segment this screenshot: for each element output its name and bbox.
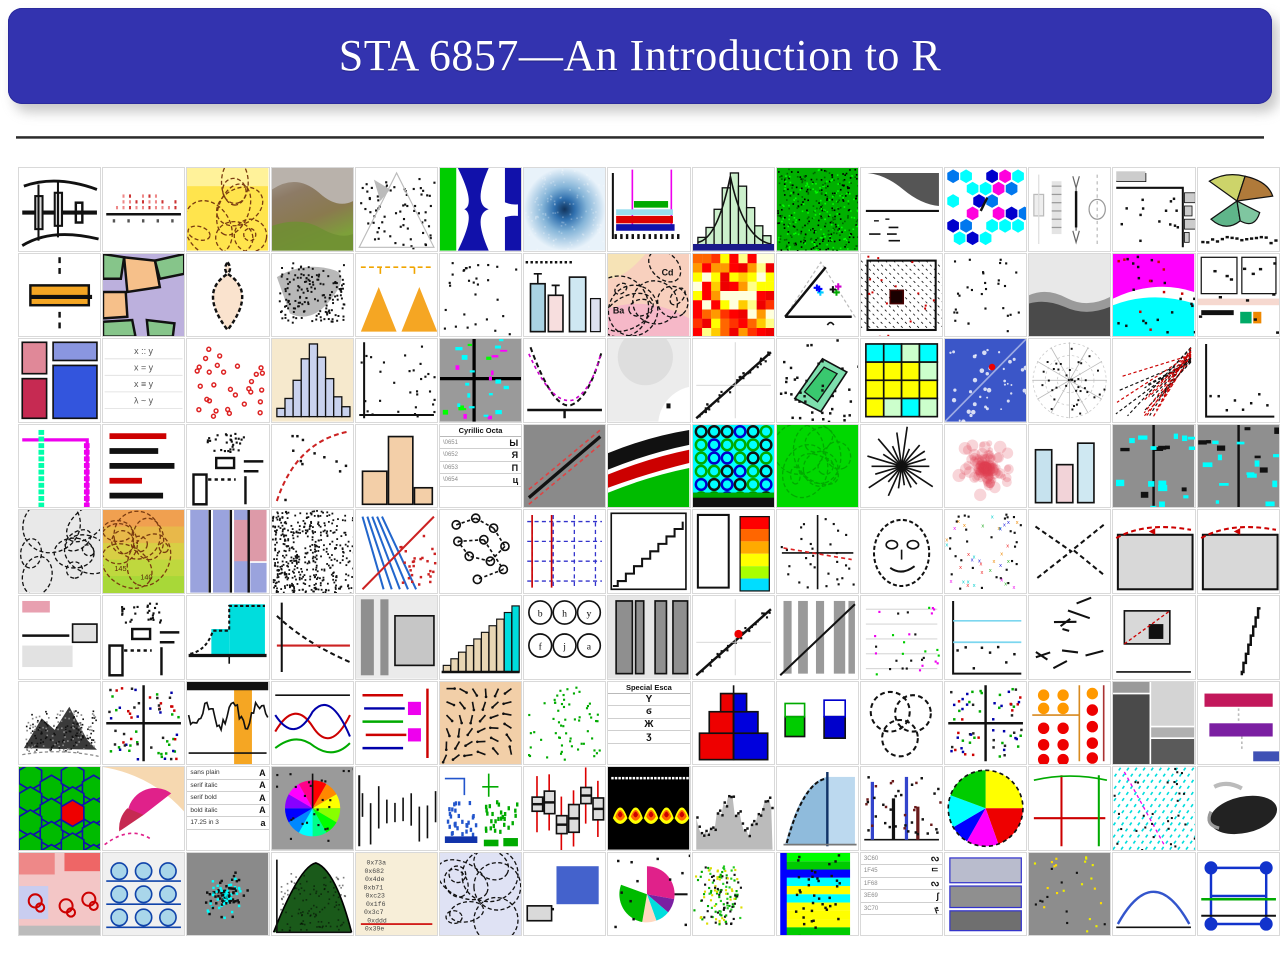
svg-text:x: x — [950, 579, 953, 585]
svg-text:145: 145 — [115, 564, 127, 573]
thumbnail-violin-arrows[interactable] — [1028, 167, 1111, 252]
thumbnail-qq-plot-art — [356, 339, 437, 422]
svg-text:x: x — [971, 558, 974, 564]
thumbnail-vector-field-arrows[interactable] — [439, 681, 522, 766]
thumbnail-red-black-bars[interactable] — [102, 424, 185, 509]
thumbnail-choropleth-map-art — [103, 254, 184, 337]
thumbnail-contour-grey-lines-art — [19, 510, 100, 593]
thumbnail-sparse-axis[interactable] — [1197, 338, 1280, 423]
thumbnail-contour-lavender[interactable] — [439, 852, 522, 937]
thumbnail-green-noise-contour[interactable] — [776, 424, 859, 509]
thumbnail-contour-grey-lines[interactable] — [18, 509, 101, 594]
thumbnail-3d-surface-dark[interactable] — [18, 681, 101, 766]
svg-text:x: x — [953, 527, 956, 533]
svg-text:x: x — [989, 568, 992, 574]
thumbnail-pink-grey-blocks[interactable] — [18, 595, 101, 680]
thumbnail-vector-field-arrows-art — [440, 682, 521, 765]
thumbnail-diamond-shape[interactable] — [186, 253, 269, 338]
thumbnail-pie-magenta-green-art — [608, 853, 689, 936]
thumbnail-cyan-step-curve[interactable] — [186, 595, 269, 680]
thumbnail-zigzag-lines-art — [1029, 510, 1110, 593]
thumbnail-rainbow-column-art — [777, 853, 858, 936]
thumbnail-contour-pink-peach[interactable]: CdBa — [607, 253, 690, 338]
thumbnail-histogram-peach-art — [356, 425, 437, 508]
thumbnail-text-labels-cream[interactable]: 0x73a0x6820x4de0xb710xc230x1f60x3c70xddd… — [355, 852, 438, 937]
thumbnail-map-magenta-cyan-art — [1113, 254, 1194, 337]
thumbnail-contour-yellow-art — [187, 168, 268, 251]
thumbnail-boxplots-red-whiskers-art — [524, 767, 605, 850]
svg-text:x: x — [959, 565, 962, 571]
thumbnail-dense-black-dots-art — [272, 510, 353, 593]
thumbnail-scatter-marginal-hist[interactable] — [1112, 167, 1195, 252]
thumbnail-grey-quadrant-colors[interactable] — [439, 338, 522, 423]
thumbnail-multiline-colors-art — [272, 682, 353, 765]
thumbnail-color-pie-wedges[interactable] — [944, 766, 1027, 851]
thumbnail-scatter-regression-blue[interactable] — [944, 253, 1027, 338]
thumbnail-contour-lavender-art — [440, 853, 521, 936]
thumbnail-grey-treemap-art — [1113, 682, 1194, 765]
thumbnail-density-blue-radial[interactable] — [523, 167, 606, 252]
thumbnail-timeseries-orange-band[interactable] — [186, 681, 269, 766]
thumbnail-dark-red-spikes-art — [861, 767, 942, 850]
svg-text:0x1f6: 0x1f6 — [366, 901, 386, 908]
thumbnail-multiline-colors[interactable] — [271, 681, 354, 766]
thumbnail-blue-arc-curve[interactable] — [1112, 852, 1195, 937]
thumbnail-star-rays[interactable] — [860, 424, 943, 509]
thumbnail-grey-columns-diagonal-art — [777, 596, 858, 679]
thumbnail-dashed-red-curve[interactable] — [271, 424, 354, 509]
thumbnail-ternary-plot-art — [777, 254, 858, 337]
thumbnail-timeseries-orange-band-art — [187, 682, 268, 765]
thumbnail-grey-box-right-art — [1198, 510, 1279, 593]
thumbnail-molecule-diagram[interactable] — [439, 509, 522, 594]
thumbnail-table-header: Cyrillic Octa — [440, 425, 521, 437]
thumbnail-contour-orange-yellow[interactable]: 145140 — [102, 509, 185, 594]
thumbnail-grey-yellow-scatter-art — [1029, 853, 1110, 936]
thumbnail-bars-pink-cyan-art — [1029, 425, 1110, 508]
thumbnail-fan-lines-red[interactable] — [1112, 338, 1195, 423]
thumbnail-green-mountain[interactable] — [271, 852, 354, 937]
thumbnail-table-row: 3E69ʃ — [861, 890, 942, 903]
svg-text:x: x — [945, 538, 948, 544]
thumbnail-four-panel-scatter-art — [103, 682, 184, 765]
svg-text:x: x — [991, 515, 994, 521]
thumbnail-table-row: Υ — [608, 694, 689, 707]
thumbnail-qq-plot[interactable] — [355, 338, 438, 423]
thumbnail-table-row: serif italicA — [187, 780, 268, 793]
thumbnail-grey-box-red-dot[interactable] — [1112, 509, 1195, 594]
thumbnail-sketch-boxes-art — [103, 596, 184, 679]
thumbnail-bars-pink-cyan[interactable] — [1028, 424, 1111, 509]
thumbnail-vertical-segments[interactable] — [355, 766, 438, 851]
thumbnail-table-row: ϭ — [608, 706, 689, 719]
thumbnail-grey-diagonal-ci[interactable] — [523, 424, 606, 509]
svg-text:x: x — [962, 580, 965, 586]
thumbnail-pie-magenta-green[interactable] — [607, 852, 690, 937]
thumbnail-stacked-bars-magenta[interactable] — [607, 167, 690, 252]
thumbnail-table-row: \0653П — [440, 462, 521, 475]
thumbnail-special-escapes-table[interactable]: Special EscaΥϭЖʒ — [607, 681, 690, 766]
thumbnail-blue-square-plot-art — [524, 853, 605, 936]
thumbnail-declining-red-line[interactable] — [271, 595, 354, 680]
thumbnail-grey-timeseries-noise[interactable] — [692, 766, 775, 851]
thumbnail-histogram-tan-cyan-art — [440, 596, 521, 679]
svg-text:x: x — [1013, 585, 1016, 591]
thumbnail-grey-vertical-panels[interactable] — [355, 595, 438, 680]
thumbnail-table-row: \0651Ы — [440, 437, 521, 450]
thumbnail-heatmap-red-yellow-art — [693, 254, 774, 337]
thumbnail-grey-timeseries-noise-art — [693, 767, 774, 850]
thumbnail-grey-bars-tall[interactable] — [607, 595, 690, 680]
thumbnail-radar-polar[interactable] — [1028, 338, 1111, 423]
thumbnail-boxplot-whisker-outline-art — [19, 168, 100, 251]
thumbnail-boxplot-orange-horizontal[interactable] — [18, 253, 101, 338]
svg-text:x: x — [999, 527, 1002, 533]
thumbnail-declining-red-line-art — [272, 596, 353, 679]
thumbnail-formula-plot[interactable] — [860, 167, 943, 252]
thumbnail-blue-square-plot[interactable] — [523, 852, 606, 937]
thumbnail-blue-arc-curve-art — [1113, 853, 1194, 936]
svg-text:x: x — [999, 564, 1002, 570]
thumbnail-cyrillic-octal-table[interactable]: Cyrillic Octa\0651Ы\0652Я\0653П\0654ц — [439, 424, 522, 509]
thumbnail-contour-orange-yellow-art: 145140 — [103, 510, 184, 593]
thumbnail-contour-pink-peach-art: CdBa — [608, 254, 689, 337]
svg-text:λ ~ y: λ ~ y — [134, 396, 154, 406]
thumbnail-stipple-dark-art — [272, 254, 353, 337]
thumbnail-blue-node-graph-art — [1198, 853, 1279, 936]
thumbnail-stipple-dark[interactable] — [271, 253, 354, 338]
thumbnail-photo-mountain[interactable] — [271, 167, 354, 252]
thumbnail-grey-inset-box[interactable] — [1112, 595, 1195, 680]
svg-text:y: y — [587, 609, 592, 620]
thumbnail-grey-cyan-right-art — [1198, 425, 1279, 508]
thumbnail-red-black-bars-art — [103, 425, 184, 508]
svg-text:a: a — [587, 642, 592, 653]
thumbnail-orange-triangles-art — [356, 254, 437, 337]
thumbnail-green-point-cloud[interactable] — [523, 681, 606, 766]
thumbnail-four-panel-scatter[interactable] — [102, 681, 185, 766]
thumbnail-parabola-curve[interactable] — [523, 338, 606, 423]
thumbnail-boxplots-red-whiskers[interactable] — [523, 766, 606, 851]
thumbnail-grey-columns-diagonal[interactable] — [776, 595, 859, 680]
thumbnail-grid-circles-blue-art — [103, 853, 184, 936]
thumbnail-flame-heatmap-black[interactable] — [607, 766, 690, 851]
thumbnail-orange-triangles[interactable] — [355, 253, 438, 338]
thumbnail-cyan-hatch-diagonal[interactable] — [1112, 766, 1195, 851]
thumbnail-table-row: 3C60ᔓ — [861, 853, 942, 866]
thumbnail-four-panel-colored-scatter[interactable] — [944, 681, 1027, 766]
thumbnail-hexagons-green-red-art — [19, 767, 100, 850]
thumbnail-multipanel-small-art — [1198, 254, 1279, 337]
thumbnail-diagonal-red-point-art — [693, 596, 774, 679]
page-title: STA 6857—An Introduction to R — [339, 34, 942, 78]
thumbnail-table-row: \0654ц — [440, 474, 521, 487]
thumbnail-face-chernoff-art — [861, 510, 942, 593]
thumbnail-blue-red-lines-dots-art — [356, 510, 437, 593]
thumbnail-letters-scatter[interactable] — [439, 253, 522, 338]
thumbnail-grey-treemap[interactable] — [1112, 681, 1195, 766]
thumbnail-heatmap-red-yellow[interactable] — [692, 253, 775, 338]
slide: STA 6857—An Introduction to R CdBax :: y… — [0, 0, 1280, 960]
thumbnail-cyan-hatch-diagonal-art — [1113, 767, 1194, 850]
thumbnail-molecule-diagram-art — [440, 510, 521, 593]
thumbnail-diamond-shape-art — [187, 254, 268, 337]
thumbnail-four-panel-colored-scatter-art — [945, 682, 1026, 765]
thumbnail-vertical-step[interactable] — [1197, 595, 1280, 680]
thumbnail-dotchart-red-ticks-art — [103, 168, 184, 251]
svg-text:0xc23: 0xc23 — [365, 892, 385, 899]
thumbnail-vertical-step-art — [1198, 596, 1279, 679]
thumbnail-grey-blue-bands-art — [945, 853, 1026, 936]
svg-text:0x39e: 0x39e — [365, 925, 385, 932]
thumbnail-mosaic-red-blue-art — [19, 339, 100, 422]
thumbnail-blue-node-graph[interactable] — [1197, 852, 1280, 937]
svg-text:140: 140 — [141, 573, 153, 582]
thumbnail-boxplot-whisker-outline[interactable] — [18, 167, 101, 252]
thumbnail-stacked-bars-magenta-art — [608, 168, 689, 251]
thumbnail-grid-yellow-cyan-art — [861, 339, 942, 422]
thumbnail-cyan-blob-dark-art — [187, 853, 268, 936]
thumbnail-multipanel-small[interactable] — [1197, 253, 1280, 338]
thumbnail-bands-blue-green[interactable] — [439, 167, 522, 252]
thumbnail-blue-field-points[interactable] — [944, 338, 1027, 423]
thumbnail-cyan-axis-plot[interactable] — [944, 595, 1027, 680]
thumbnail-hexbin-cyan-magenta[interactable] — [944, 167, 1027, 252]
thumbnail-grid-circles-blue[interactable] — [102, 852, 185, 937]
svg-text:x: x — [1003, 523, 1006, 529]
thumbnail-color-wheel-art — [272, 767, 353, 850]
banner-background: STA 6857—An Introduction to R — [8, 8, 1272, 104]
svg-text:x: x — [957, 519, 960, 525]
thumbnail-dark-red-spikes[interactable] — [860, 766, 943, 851]
thumbnail-sketch-lines[interactable] — [186, 424, 269, 509]
thumbnail-grey-cyan-right[interactable] — [1197, 424, 1280, 509]
thumbnail-grey-inset-box-art — [1113, 596, 1194, 679]
thumbnail-blue-dashed-grid-art — [524, 510, 605, 593]
thumbnail-color-wheel[interactable] — [271, 766, 354, 851]
thumbnail-green-yellow-cloud[interactable] — [692, 852, 775, 937]
thumbnail-table-row: 1F45ᄃ — [861, 865, 942, 878]
thumbnail-map-magenta-cyan[interactable] — [1112, 253, 1195, 338]
thumbnail-density-blue-radial-art — [524, 168, 605, 251]
thumbnail-cyan-magenta-axes-art — [19, 425, 100, 508]
svg-text:0xb71: 0xb71 — [363, 884, 383, 891]
thumbnail-scatter-marginal-hist-art — [1113, 168, 1194, 251]
thumbnail-mosaic-red-blue[interactable] — [18, 338, 101, 423]
thumbnail-ternary-plot[interactable] — [776, 253, 859, 338]
thumbnail-scatter-red-circles[interactable] — [186, 338, 269, 423]
thumbnail-greyscale-dome-art — [1029, 254, 1110, 337]
thumbnail-formula-rows-art: x :: yx = yx ≡ yλ ~ y — [103, 339, 184, 422]
thumbnail-hatched-square[interactable] — [860, 253, 943, 338]
thumbnail-sparse-segments-art — [1029, 596, 1110, 679]
svg-text:x: x — [963, 524, 966, 530]
thumbnail-choropleth-map[interactable] — [102, 253, 185, 338]
thumbnail-fan-olive-green-art — [1198, 168, 1279, 251]
thumbnail-letters-scatter-art — [440, 254, 521, 337]
thumbnail-grey-disc[interactable] — [607, 338, 690, 423]
svg-text:0x73a: 0x73a — [366, 859, 386, 866]
svg-text:x :: y: x :: y — [134, 346, 153, 356]
thumbnail-fan-lines-red-art — [1113, 339, 1194, 422]
thumbnail-fan-olive-green[interactable] — [1197, 167, 1280, 252]
thumbnail-dashed-red-curve-art — [272, 425, 353, 508]
thumbnail-pyramid-red-blue-art — [693, 682, 774, 765]
thumbnail-red-cloud-blob-art — [945, 425, 1026, 508]
thumbnail-blue-red-lines-dots[interactable] — [355, 509, 438, 594]
thumbnail-magenta-markers[interactable] — [355, 681, 438, 766]
svg-text:x: x — [1007, 559, 1010, 565]
thumbnail-photo-mountain-art — [272, 168, 353, 251]
thumbnail-histogram-peach[interactable] — [355, 424, 438, 509]
thumbnail-font-faces-table[interactable]: sans plainAserif italicAserif boldAbold … — [186, 766, 269, 851]
thumbnail-greyscale-dome[interactable] — [1028, 253, 1111, 338]
thumbnail-table-row: sans plainA — [187, 767, 268, 780]
thumbnail-venn-circles[interactable] — [860, 681, 943, 766]
thumbnail-green-polygon-map-art — [777, 339, 858, 422]
thumbnail-hexagons-green-red[interactable] — [18, 766, 101, 851]
thumbnail-grey-yellow-scatter[interactable] — [1028, 852, 1111, 937]
thumbnail-3d-dark-shape-art — [1198, 767, 1279, 850]
svg-text:x: x — [973, 584, 976, 590]
thumbnail-table-row: ʒ — [608, 731, 689, 744]
thumbnail-orange-red-dots-grid-art — [1029, 682, 1110, 765]
thumbnail-crimson-purple-bars[interactable] — [1197, 681, 1280, 766]
thumbnail-noise-green[interactable] — [776, 167, 859, 252]
svg-text:x: x — [1006, 544, 1009, 550]
thumbnail-3d-dark-shape[interactable] — [1197, 766, 1280, 851]
svg-text:0x4de: 0x4de — [365, 876, 385, 883]
thumbnail-magenta-green-scatter-art — [861, 596, 942, 679]
thumbnail-confetti-scatter[interactable]: xxxxxxxxxxxxxxxxxxxxxxxxxxxxxxxxxx — [944, 509, 1027, 594]
thumbnail-pie-magenta-peach[interactable] — [102, 766, 185, 851]
thumbnail-cyan-axis-plot-art — [945, 596, 1026, 679]
thumbnail-black-red-green-bands[interactable] — [607, 424, 690, 509]
thumbnail-flame-heatmap-black-art — [608, 767, 689, 850]
thumbnail-diagonal-red-point[interactable] — [692, 595, 775, 680]
thumbnail-red-green-crosshair-art — [1029, 767, 1110, 850]
thumbnail-map-pink-red-blue[interactable] — [18, 852, 101, 937]
thumbnail-spineplot-blue-pink[interactable] — [186, 509, 269, 594]
thumbnail-contour-yellow[interactable] — [186, 167, 269, 252]
svg-text:x: x — [981, 524, 984, 530]
thumbnail-grey-box-right[interactable] — [1197, 509, 1280, 594]
svg-text:h: h — [562, 609, 567, 620]
thumbnail-pink-grey-blocks-art — [19, 596, 100, 679]
thumbnail-green-blue-squares[interactable] — [776, 681, 859, 766]
thumbnail-blue-area-dome[interactable] — [776, 766, 859, 851]
thumbnail-grey-disc-art — [608, 339, 689, 422]
thumbnail-grey-vertical-panels-art — [356, 596, 437, 679]
svg-text:x: x — [1016, 520, 1019, 526]
thumbnail-colorbar-legend[interactable] — [692, 509, 775, 594]
thumbnail-green-mountain-art — [272, 853, 353, 936]
thumbnail-circles-letters[interactable]: bhyfja — [523, 595, 606, 680]
thumbnail-scatter-red-circles-art — [187, 339, 268, 422]
thumbnail-cyan-blob-dark[interactable] — [186, 852, 269, 937]
thumbnail-scatter-sparse[interactable] — [355, 167, 438, 252]
thumbnail-colorbar-legend-art — [693, 510, 774, 593]
thumbnail-table-row: Ж — [608, 719, 689, 732]
thumbnail-boxplot-orange-horizontal-art — [19, 254, 100, 337]
svg-text:j: j — [562, 642, 566, 653]
thumbnail-circles-pattern-cyan[interactable] — [692, 424, 775, 509]
thumbnail-orange-red-dots-grid[interactable] — [1028, 681, 1111, 766]
thumbnail-table-row: bold italicA — [187, 805, 268, 818]
thumbnail-grey-diagonal-ci-art — [524, 425, 605, 508]
thumbnail-crosshair-red[interactable] — [776, 509, 859, 594]
thumbnail-histogram-lavender[interactable] — [271, 338, 354, 423]
svg-text:x: x — [1004, 582, 1007, 588]
thumbnail-parabola-curve-art — [524, 339, 605, 422]
thumbnail-cyan-magenta-axes[interactable] — [18, 424, 101, 509]
thumbnail-blue-green-dotplot-art — [440, 767, 521, 850]
thumbnail-grey-blue-bands[interactable] — [944, 852, 1027, 937]
thumbnail-venn-circles-art — [861, 682, 942, 765]
thumbnail-grey-cyan-panels[interactable] — [1112, 424, 1195, 509]
svg-text:x: x — [981, 570, 984, 576]
thumbnail-dotchart-red-ticks[interactable] — [102, 167, 185, 252]
thumbnail-face-chernoff[interactable] — [860, 509, 943, 594]
thumbnail-black-red-green-bands-art — [608, 425, 689, 508]
thumbnail-grid: CdBax :: yx = yx ≡ yλ ~ yCyrillic Octa\0… — [18, 167, 1280, 936]
thumbnail-zigzag-lines[interactable] — [1028, 509, 1111, 594]
thumbnail-unicode-hex-table[interactable]: 3C60ᔓ1F45ᄃ1F68ᔓ3E69ʃ3C70ᢞ — [860, 852, 943, 937]
thumbnail-red-cloud-blob[interactable] — [944, 424, 1027, 509]
thumbnail-text-labels-cream-art: 0x73a0x6820x4de0xb710xc230x1f60x3c70xddd… — [356, 853, 437, 936]
svg-text:x = y: x = y — [134, 363, 154, 373]
thumbnail-table-row: \0652Я — [440, 449, 521, 462]
svg-text:b: b — [538, 609, 543, 620]
thumbnail-sparse-segments[interactable] — [1028, 595, 1111, 680]
thumbnail-bands-blue-green-art — [440, 168, 521, 251]
thumbnail-3d-surface-dark-art — [19, 682, 100, 765]
thumbnail-pyramid-red-blue[interactable] — [692, 681, 775, 766]
thumbnail-crosshair-red-art — [777, 510, 858, 593]
thumbnail-red-green-crosshair[interactable] — [1028, 766, 1111, 851]
thumbnail-blue-dashed-grid[interactable] — [523, 509, 606, 594]
thumbnail-magenta-markers-art — [356, 682, 437, 765]
thumbnail-grid-yellow-cyan[interactable] — [860, 338, 943, 423]
thumbnail-scatter-sparse-art — [356, 168, 437, 251]
thumbnail-histogram-green-curve-art — [693, 168, 774, 251]
thumbnail-green-polygon-map[interactable] — [776, 338, 859, 423]
thumbnail-blue-green-dotplot[interactable] — [439, 766, 522, 851]
thumbnail-green-point-cloud-art — [524, 682, 605, 765]
svg-text:0x3c7: 0x3c7 — [364, 909, 384, 916]
thumbnail-hatched-square-art — [861, 254, 942, 337]
thumbnail-histogram-tan-cyan[interactable] — [439, 595, 522, 680]
thumbnail-sketch-boxes[interactable] — [102, 595, 185, 680]
thumbnail-noise-green-art — [777, 168, 858, 251]
thumbnail-green-noise-contour-art — [777, 425, 858, 508]
thumbnail-magenta-green-scatter[interactable] — [860, 595, 943, 680]
thumbnail-ecdf-step[interactable] — [607, 509, 690, 594]
thumbnail-blue-field-points-art — [945, 339, 1026, 422]
thumbnail-violin-arrows-art — [1029, 168, 1110, 251]
svg-text:x: x — [1000, 552, 1003, 558]
thumbnail-barplot-errorbars[interactable] — [523, 253, 606, 338]
thumbnail-barplot-errorbars-art — [524, 254, 605, 337]
thumbnail-formula-plot-art — [861, 168, 942, 251]
thumbnail-dense-black-dots[interactable] — [271, 509, 354, 594]
thumbnail-rainbow-column[interactable] — [776, 852, 859, 937]
horizontal-rule-divider — [16, 136, 1264, 139]
thumbnail-formula-rows[interactable]: x :: yx = yx ≡ yλ ~ y — [102, 338, 185, 423]
thumbnail-histogram-green-curve[interactable] — [692, 167, 775, 252]
thumbnail-table-row: 1F68ᔓ — [861, 878, 942, 891]
thumbnail-diagonal-scatter[interactable] — [692, 338, 775, 423]
